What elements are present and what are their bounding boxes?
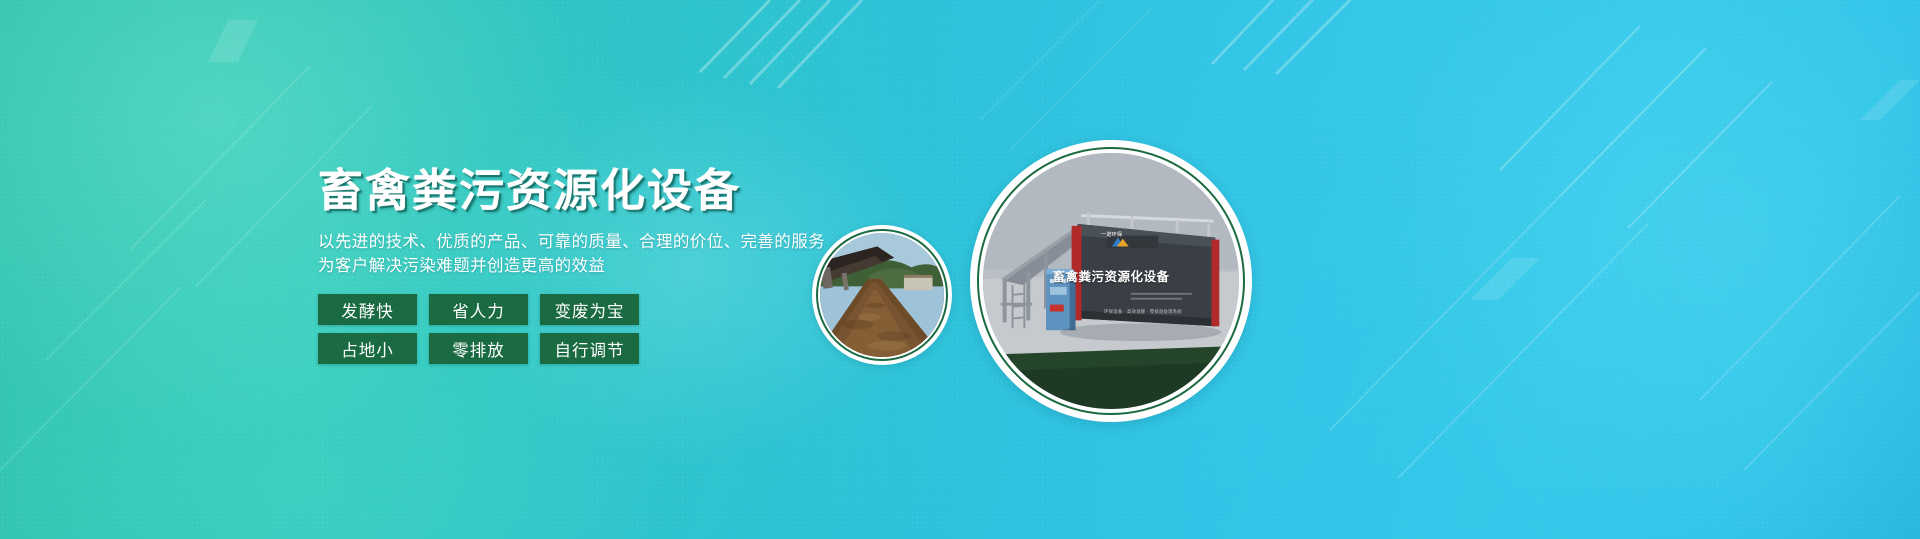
badge-waste-to-treasure[interactable]: 变废为宝 [540, 294, 639, 325]
badge-self-adjusting[interactable]: 自行调节 [540, 333, 639, 364]
promo-banner: 畜禽粪污资源化设备 以先进的技术、优质的产品、可靠的质量、合理的价位、完善的服务… [0, 0, 1920, 539]
subtitle-line-2: 为客户解决污染难题并创造更高的效益 [318, 254, 878, 278]
equipment-render: 畜禽粪污资源化设备 环保设备 · 高效发酵 · 零排放处理系统 一诺环保 [983, 153, 1239, 409]
texture-overlay [0, 0, 1920, 539]
feature-badges: 发酵快 省人力 变废为宝 占地小 零排放 自行调节 [318, 294, 878, 364]
circle-inner-ring: 畜禽粪污资源化设备 环保设备 · 高效发酵 · 零排放处理系统 一诺环保 [977, 147, 1245, 415]
compost-photo-circle[interactable] [812, 225, 952, 365]
compost-pile-photo [820, 233, 944, 357]
banner-content: 畜禽粪污资源化设备 以先进的技术、优质的产品、可靠的质量、合理的价位、完善的服务… [318, 166, 878, 364]
badge-row-2: 占地小 零排放 自行调节 [318, 333, 878, 364]
badge-save-labor[interactable]: 省人力 [429, 294, 528, 325]
circle-inner-ring [816, 229, 948, 361]
badge-zero-emission[interactable]: 零排放 [429, 333, 528, 364]
subtitle-block: 以先进的技术、优质的产品、可靠的质量、合理的价位、完善的服务 为客户解决污染难题… [318, 230, 878, 278]
badge-row-1: 发酵快 省人力 变废为宝 [318, 294, 878, 325]
subtitle-line-1: 以先进的技术、优质的产品、可靠的质量、合理的价位、完善的服务 [318, 230, 878, 254]
glow-right [1340, 0, 1920, 539]
badge-fermentation-fast[interactable]: 发酵快 [318, 294, 417, 325]
badge-small-footprint[interactable]: 占地小 [318, 333, 417, 364]
diagonal-light-streaks [0, 0, 1920, 539]
page-title: 畜禽粪污资源化设备 [318, 166, 878, 216]
equipment-photo-circle[interactable]: 畜禽粪污资源化设备 环保设备 · 高效发酵 · 零排放处理系统 一诺环保 [970, 140, 1252, 422]
